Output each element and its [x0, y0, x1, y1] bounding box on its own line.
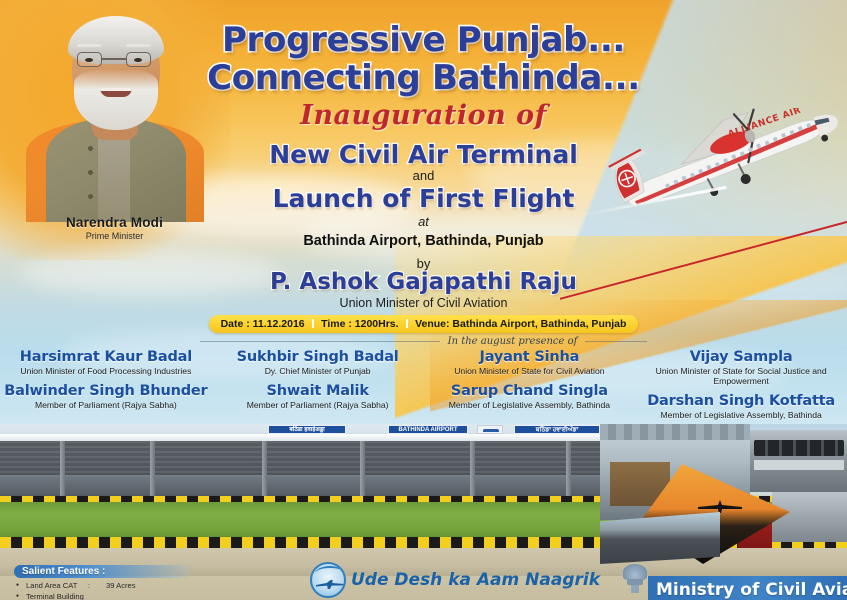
dignitary-name: Jayant Sinha	[424, 349, 636, 365]
divider-left	[200, 341, 440, 342]
ashoka-emblem-icon	[620, 562, 650, 598]
list-item: Land Area CAT : 39 Acres	[14, 580, 189, 591]
salient-features-title: Salient Features :	[14, 565, 189, 578]
dignitary-role: Union Minister of State for Social Justi…	[635, 366, 847, 386]
feature-label: Terminal Building	[26, 592, 84, 600]
dignitary-name: Sarup Chand Singla	[424, 383, 636, 399]
event-time: Time : 1200Hrs.	[321, 318, 398, 330]
chief-guest-name: P. Ashok Gajapathi Raju	[0, 269, 847, 295]
event-details-pill: Date : 11.12.2016Time : 1200Hrs.Venue: B…	[209, 315, 639, 333]
dignitary-column: Harsimrat Kaur Badal Union Minister of F…	[0, 349, 212, 420]
dignitary-role: Member of Legislative Assembly, Bathinda	[424, 400, 636, 410]
terminal-sign-english: BATHINDA AIRPORT	[388, 425, 468, 434]
dignitary-name: Vijay Sampla	[635, 349, 847, 365]
terminal-column	[566, 441, 571, 499]
airport-authority-emblem-icon	[477, 425, 503, 434]
connector-at: at	[0, 214, 847, 229]
dignitary-role: Union Minister of Food Processing Indust…	[0, 366, 212, 376]
terminal-canopy	[0, 441, 620, 475]
dignitary-column: Sukhbir Singh Badal Dy. Chief Minister o…	[212, 349, 424, 420]
dignitary-name: Sukhbir Singh Badal	[212, 349, 424, 365]
dignitary-name: Shwait Malik	[212, 383, 424, 399]
salient-features-block: Salient Features : Land Area CAT : 39 Ac…	[14, 565, 189, 600]
udan-circle-icon	[310, 562, 346, 598]
ministry-name: Ministry of Civil Aviation	[656, 580, 847, 600]
headline-line-1: Progressive Punjab...	[0, 20, 847, 60]
terminal-column	[60, 441, 65, 499]
terminal-sign-hindi: बठिंडा हवाईअड्डा	[268, 425, 346, 434]
dignitary-role: Dy. Chief Minister of Punjab	[212, 366, 424, 376]
udan-logo-text: Ude Desh ka Aam Naagrik	[351, 570, 600, 590]
seating-area-photo	[750, 430, 847, 492]
subject-new-terminal: New Civil Air Terminal	[0, 140, 847, 169]
venue-line: Bathinda Airport, Bathinda, Punjab	[0, 233, 847, 249]
divider-right	[585, 341, 647, 342]
separator	[312, 319, 315, 328]
photo-collage	[600, 424, 847, 564]
dignitary-name: Balwinder Singh Bhunder	[0, 383, 212, 399]
inauguration-script-text: Inauguration of	[0, 100, 847, 131]
feature-colon: :	[88, 580, 90, 591]
terminal-sign-punjabi: ਬਠਿੰਡਾ ਹਵਾਈਅੱਡਾ	[514, 425, 600, 434]
dignitary-role: Member of Parliament (Rajya Sabha)	[212, 400, 424, 410]
feature-label: Land Area CAT	[26, 581, 77, 590]
connector-and: and	[0, 168, 847, 183]
separator	[406, 319, 409, 328]
dignitary-role: Union Minister of State for Civil Aviati…	[424, 366, 636, 376]
terminal-column	[360, 441, 365, 499]
event-venue: Venue: Bathinda Airport, Bathinda, Punja…	[415, 318, 626, 330]
dignitary-name: Harsimrat Kaur Badal	[0, 349, 212, 365]
august-presence-label: In the august presence of	[448, 336, 578, 347]
salient-features-list: Land Area CAT : 39 Acres Terminal Buildi…	[14, 580, 189, 600]
terminal-column	[262, 441, 267, 499]
terminal-building-photo: बठिंडा हवाईअड्डा BATHINDA AIRPORT ਬਠਿੰਡਾ…	[0, 424, 620, 502]
dignitary-column: Vijay Sampla Union Minister of State for…	[635, 349, 847, 420]
event-details-strip: Date : 11.12.2016Time : 1200Hrs.Venue: B…	[0, 314, 847, 333]
dignitary-column: Jayant Sinha Union Minister of State for…	[424, 349, 636, 420]
footer: Salient Features : Land Area CAT : 39 Ac…	[0, 560, 847, 600]
ministry-logo	[620, 562, 650, 598]
terminal-column	[470, 441, 475, 499]
dignitary-role: Member of Legislative Assembly, Bathinda	[635, 410, 847, 420]
list-item: Terminal Building	[14, 591, 189, 600]
terminal-column	[150, 441, 155, 499]
plane-silhouette-icon	[696, 498, 744, 514]
udan-logo: Ude Desh ka Aam Naagrik	[310, 562, 600, 598]
headline-line-2: Connecting Bathinda...	[0, 58, 847, 98]
dignitaries-grid: Harsimrat Kaur Badal Union Minister of F…	[0, 349, 847, 420]
feature-value: 39 Acres	[106, 580, 136, 591]
chief-guest-role: Union Minister of Civil Aviation	[0, 296, 847, 310]
dignitary-name: Darshan Singh Kotfatta	[635, 393, 847, 409]
subject-first-flight: Launch of First Flight	[0, 184, 847, 213]
dignitary-role: Member of Parliament (Rajya Sabha)	[0, 400, 212, 410]
august-presence-row: In the august presence of	[0, 336, 847, 347]
poster-root: ALLIANCE AIR Narendra Modi Prime Ministe…	[0, 0, 847, 600]
airport-photo-strip: बठिंडा हवाईअड्डा BATHINDA AIRPORT ਬਠਿੰਡਾ…	[0, 424, 847, 576]
event-date: Date : 11.12.2016	[221, 318, 305, 330]
terminal-roof	[0, 434, 620, 441]
